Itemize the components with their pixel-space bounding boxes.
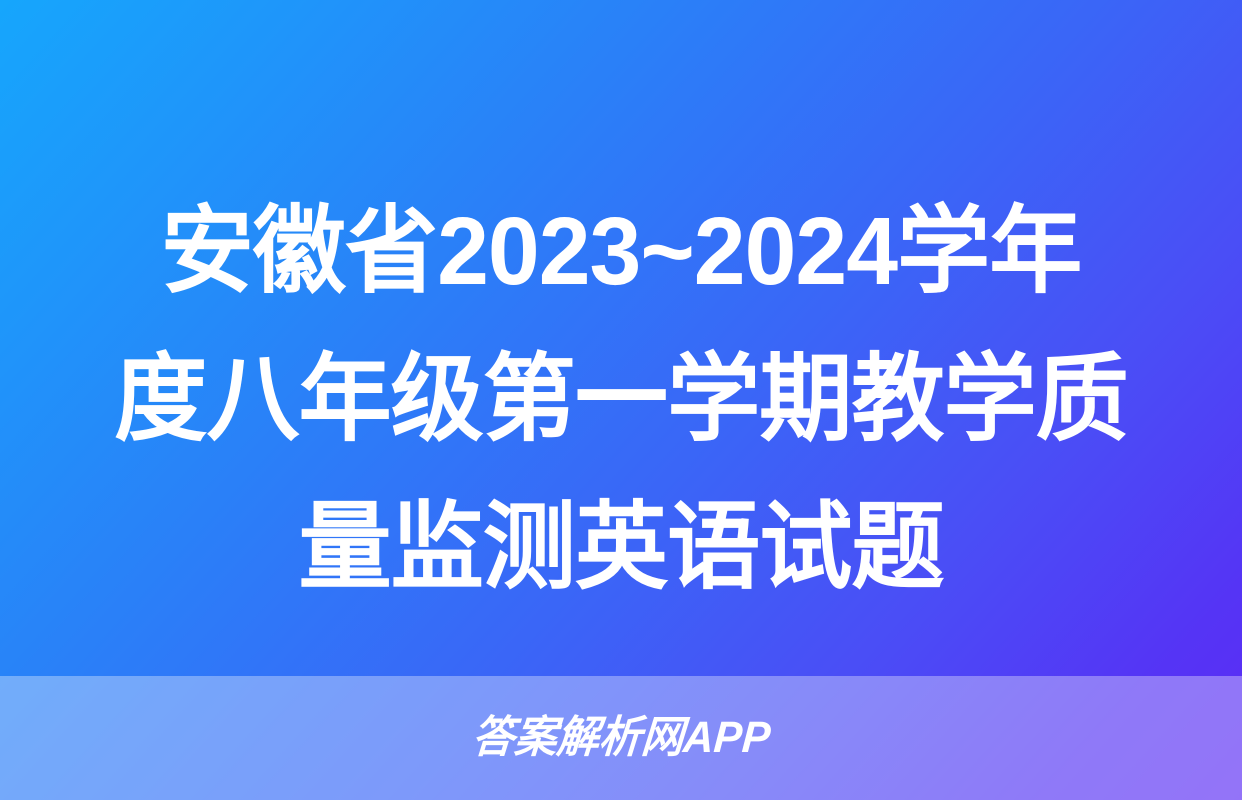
poster-canvas: 安徽省2023~2024学年 度八年级第一学期教学质 量监测英语试题 答案解析网… (0, 0, 1242, 800)
title-line-1: 安徽省2023~2024学年 (57, 178, 1184, 326)
watermark-band: 答案解析网APP (0, 676, 1242, 800)
title-line-3: 量监测英语试题 (57, 474, 1184, 622)
title-line-2: 度八年级第一学期教学质 (57, 326, 1184, 474)
page-title: 安徽省2023~2024学年 度八年级第一学期教学质 量监测英语试题 (0, 178, 1242, 622)
watermark-text: 答案解析网APP (470, 714, 771, 762)
